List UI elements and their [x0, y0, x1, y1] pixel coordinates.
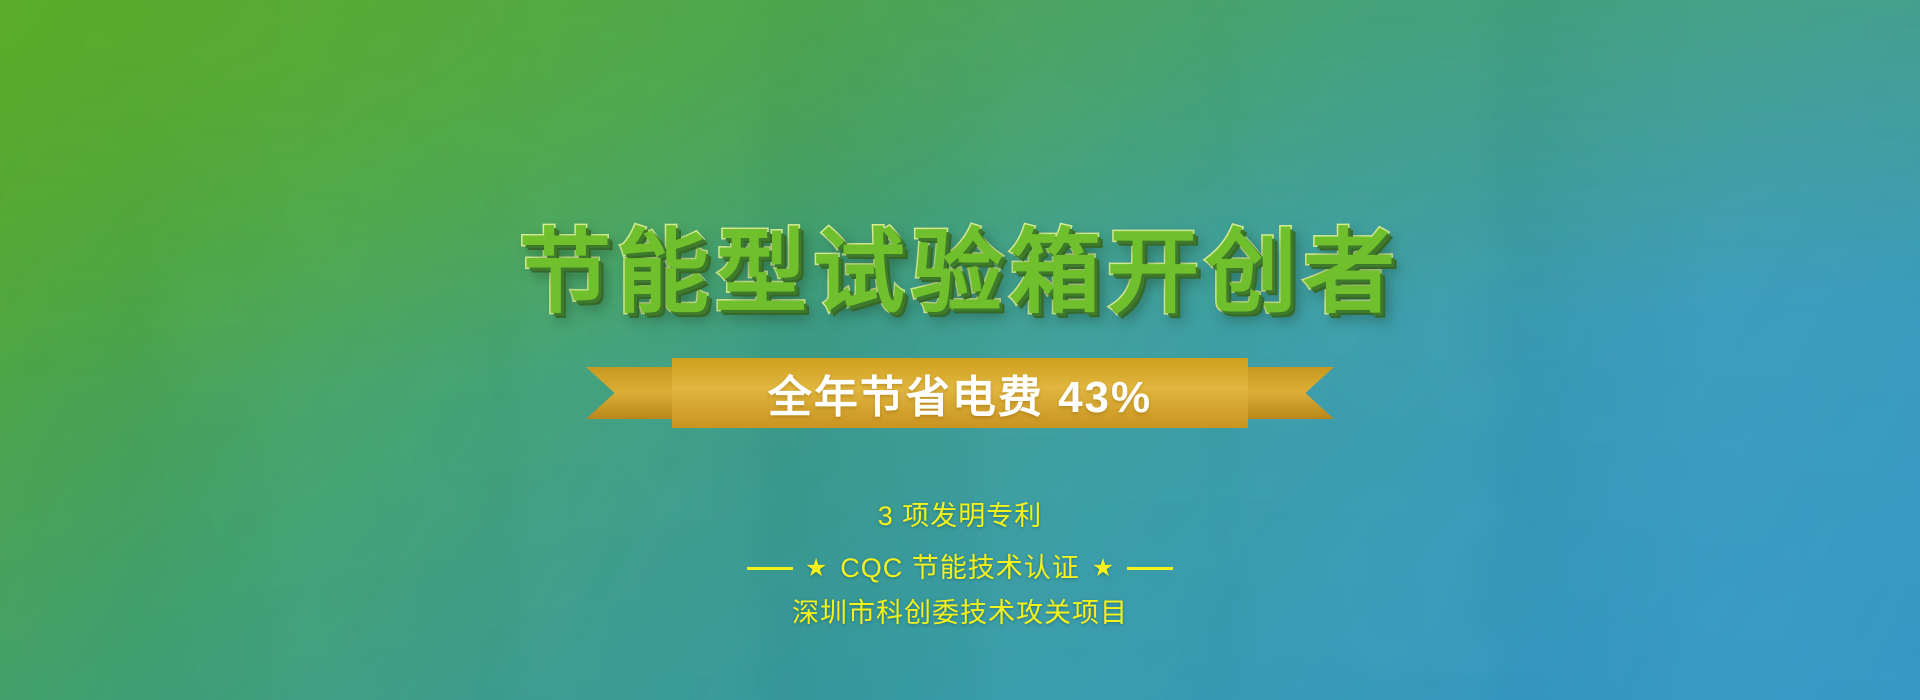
star-left-icon: ★ — [805, 556, 828, 581]
credential-line-certification: ★ CQC 节能技术认证 ★ — [747, 546, 1173, 591]
savings-ribbon: 全年节省电费 43% — [672, 358, 1248, 428]
ribbon-label: 全年节省电费 43% — [768, 361, 1152, 425]
star-right-icon: ★ — [1092, 556, 1115, 581]
credential-line-patents: 3 项发明专利 — [0, 494, 1920, 539]
certification-label: CQC 节能技术认证 — [840, 546, 1080, 591]
rule-right-icon — [1127, 567, 1173, 570]
credentials-block: 3 项发明专利 ★ CQC 节能技术认证 ★ 深圳市科创委技术攻关项目 — [0, 494, 1920, 636]
banner-headline: 节能型试验箱开创者 — [0, 222, 1920, 325]
banner-content: 节能型试验箱开创者 全年节省电费 43% 3 项发明专利 ★ CQC 节能技术认… — [0, 0, 1920, 700]
rule-left-icon — [747, 567, 793, 570]
ribbon-body: 全年节省电费 43% — [672, 358, 1248, 428]
credential-line-project: 深圳市科创委技术攻关项目 — [0, 591, 1920, 636]
promo-banner: 节能型试验箱开创者 全年节省电费 43% 3 项发明专利 ★ CQC 节能技术认… — [0, 0, 1920, 700]
